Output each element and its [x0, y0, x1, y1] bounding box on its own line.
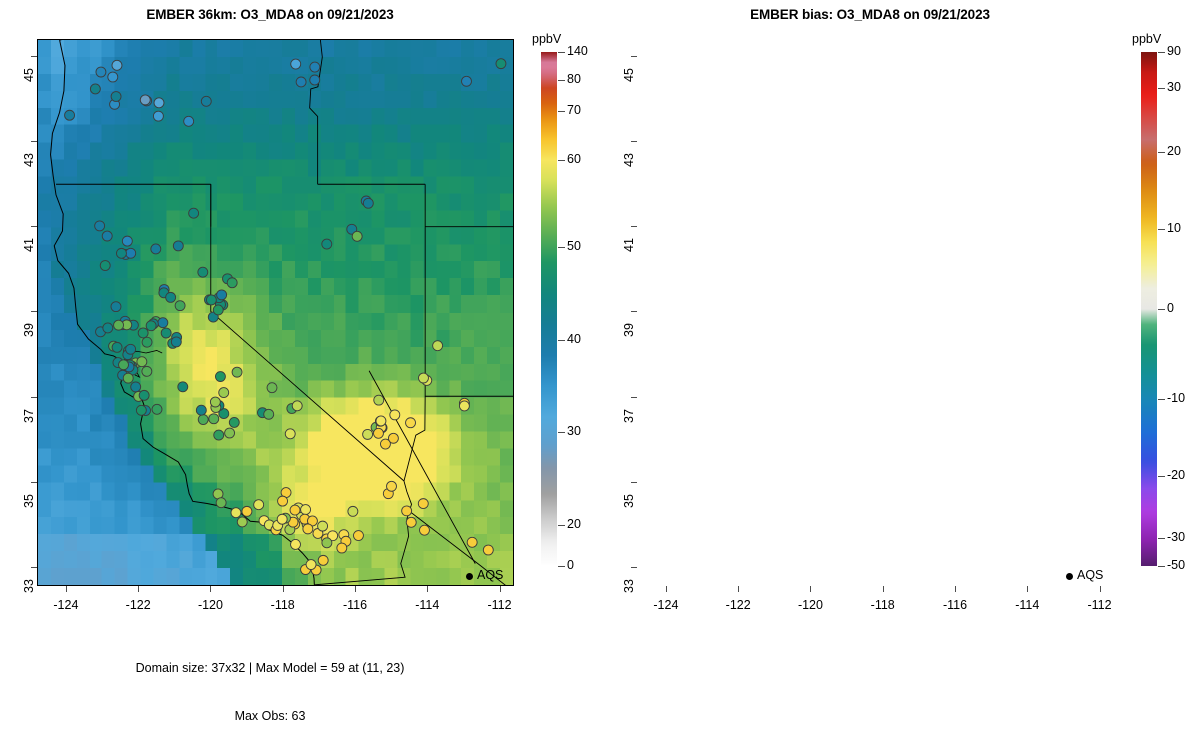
y-axis-label: 43 [622, 140, 636, 180]
aqs-site-marker[interactable] [146, 321, 156, 331]
page-title-model: EMBER 36km: O3_MDA8 on 09/21/2023 [0, 7, 540, 22]
y-axis-label: 45 [22, 55, 36, 95]
aqs-site-marker[interactable] [254, 500, 264, 510]
x-axis-tick [1100, 586, 1101, 592]
colorbar-tick [558, 566, 565, 567]
aqs-site-marker[interactable] [376, 416, 386, 426]
aqs-site-marker[interactable] [264, 409, 274, 419]
colorbar-tick [1158, 88, 1165, 89]
aqs-site-marker[interactable] [380, 439, 390, 449]
aqs-site-marker[interactable] [198, 415, 208, 425]
colorbar-tick-label: 30 [1167, 80, 1181, 94]
aqs-site-marker[interactable] [217, 290, 227, 300]
aqs-site-marker[interactable] [310, 75, 320, 85]
aqs-site-marker[interactable] [140, 95, 150, 105]
aqs-site-marker[interactable] [462, 76, 472, 86]
aqs-site-marker[interactable] [242, 506, 252, 516]
aqs-site-marker[interactable] [153, 111, 163, 121]
aqs-site-marker[interactable] [122, 236, 132, 246]
aqs-site-marker[interactable] [496, 59, 506, 69]
aqs-site-marker[interactable] [210, 397, 220, 407]
colorbar-tick-label: 0 [1167, 301, 1174, 315]
y-axis-label: 43 [22, 140, 36, 180]
aqs-site-marker[interactable] [433, 341, 443, 351]
colorbar-tick [558, 111, 565, 112]
aqs-site-marker[interactable] [111, 302, 121, 312]
x-axis-tick [1027, 586, 1028, 592]
aqs-site-marker[interactable] [318, 521, 328, 531]
aqs-site-marker[interactable] [291, 539, 301, 549]
aqs-site-marker[interactable] [136, 405, 146, 415]
x-axis-label: -124 [643, 598, 689, 612]
colorbar-tick [1158, 152, 1165, 153]
y-axis-label: 39 [22, 310, 36, 350]
aqs-site-marker[interactable] [102, 231, 112, 241]
y-axis-label: 33 [622, 566, 636, 606]
aqs-site-marker[interactable] [213, 305, 223, 315]
aqs-site-marker[interactable] [322, 538, 332, 548]
colorbar-tick-label: 0 [567, 558, 574, 572]
aqs-site-marker[interactable] [189, 208, 199, 218]
aqs-site-marker[interactable] [175, 301, 185, 311]
y-axis-label: 35 [22, 481, 36, 521]
aqs-site-marker[interactable] [387, 481, 397, 491]
aqs-site-marker[interactable] [267, 383, 277, 393]
y-axis-label: 33 [22, 566, 36, 606]
colorbar-tick [1158, 229, 1165, 230]
aqs-site-marker[interactable] [126, 248, 136, 258]
colorbar-unit-bias: ppbV [1132, 32, 1161, 46]
aqs-site-marker[interactable] [310, 62, 320, 72]
x-axis-label: -116 [932, 598, 978, 612]
colorbar-tick [558, 525, 565, 526]
x-axis-tick [500, 586, 501, 592]
aqs-site-marker[interactable] [322, 239, 332, 249]
aqs-site-marker[interactable] [225, 428, 235, 438]
aqs-site-marker[interactable] [112, 342, 122, 352]
caption-model: Domain size: 37x32 | Max Model = 59 at (… [0, 628, 540, 756]
aqs-site-marker[interactable] [209, 414, 219, 424]
aqs-site-marker[interactable] [232, 367, 242, 377]
x-axis-label: -112 [477, 598, 523, 612]
aqs-site-marker[interactable] [291, 59, 301, 69]
aqs-site-marker[interactable] [301, 505, 311, 515]
aqs-site-marker[interactable] [418, 373, 428, 383]
aqs-site-marker[interactable] [96, 67, 106, 77]
aqs-site-marker[interactable] [112, 60, 122, 70]
aqs-site-marker[interactable] [100, 261, 110, 271]
aqs-site-marker[interactable] [353, 531, 363, 541]
x-axis-tick [810, 586, 811, 592]
aqs-site-marker[interactable] [406, 517, 416, 527]
colorbar-tick-label: 50 [567, 239, 581, 253]
aqs-site-marker[interactable] [418, 499, 428, 509]
aqs-site-marker[interactable] [290, 505, 300, 515]
aqs-site-marker[interactable] [137, 357, 147, 367]
aqs-site-marker[interactable] [114, 320, 124, 330]
x-axis-tick [955, 586, 956, 592]
colorbar-tick [1158, 538, 1165, 539]
aqs-site-marker[interactable] [227, 278, 237, 288]
panel-model: EMBER 36km: O3_MDA8 on 09/21/2023 AQS pp… [0, 0, 600, 672]
x-axis-label: -114 [1004, 598, 1050, 612]
colorbar-tick [1158, 566, 1165, 567]
x-axis-tick [138, 586, 139, 592]
colorbar-bias [1141, 52, 1157, 566]
aqs-site-marker[interactable] [285, 429, 295, 439]
x-axis-tick [427, 586, 428, 592]
aqs-site-marker[interactable] [108, 72, 118, 82]
colorbar-tick-label: 20 [1167, 144, 1181, 158]
colorbar-tick-label: -10 [1167, 391, 1185, 405]
x-axis-label: -124 [43, 598, 89, 612]
aqs-site-marker[interactable] [292, 401, 302, 411]
aqs-legend-model: AQS [466, 568, 503, 582]
aqs-site-marker[interactable] [123, 373, 133, 383]
aqs-site-marker[interactable] [337, 543, 347, 553]
colorbar-tick-label: 30 [567, 424, 581, 438]
y-axis-label: 41 [22, 225, 36, 265]
map-plot-model[interactable] [37, 39, 514, 586]
aqs-site-marker[interactable] [348, 506, 358, 516]
aqs-site-marker[interactable] [306, 560, 316, 570]
x-axis-label: -120 [187, 598, 233, 612]
y-axis-label: 45 [622, 55, 636, 95]
colorbar-tick-label: 90 [1167, 44, 1181, 58]
aqs-site-marker[interactable] [152, 404, 162, 414]
colorbar-unit-model: ppbV [532, 32, 561, 46]
colorbar-tick-label: 40 [567, 332, 581, 346]
aqs-site-marker[interactable] [154, 98, 164, 108]
aqs-site-marker[interactable] [171, 337, 181, 347]
aqs-site-marker[interactable] [90, 84, 100, 94]
aqs-site-marker[interactable] [231, 508, 241, 518]
y-axis-label: 41 [622, 225, 636, 265]
aqs-site-marker[interactable] [296, 77, 306, 87]
observation-points-model[interactable] [38, 40, 513, 585]
aqs-marker-icon [466, 573, 473, 580]
colorbar-tick-label: 70 [567, 103, 581, 117]
x-axis-label: -116 [332, 598, 378, 612]
colorbar-tick-label: 20 [567, 517, 581, 531]
x-axis-tick [738, 586, 739, 592]
colorbar-tick-label: 140 [567, 44, 588, 58]
y-axis-label: 37 [622, 396, 636, 436]
aqs-site-marker[interactable] [363, 198, 373, 208]
x-axis-tick [355, 586, 356, 592]
aqs-site-marker[interactable] [390, 410, 400, 420]
colorbar-model [541, 52, 557, 566]
x-axis-tick [666, 586, 667, 592]
aqs-site-marker[interactable] [196, 405, 206, 415]
aqs-site-marker[interactable] [229, 417, 239, 427]
aqs-site-marker[interactable] [363, 429, 373, 439]
x-axis-tick [883, 586, 884, 592]
aqs-site-marker[interactable] [459, 401, 469, 411]
aqs-site-marker[interactable] [116, 248, 126, 258]
x-axis-label: -122 [715, 598, 761, 612]
aqs-site-marker[interactable] [402, 506, 412, 516]
aqs-legend-label: AQS [477, 568, 503, 582]
colorbar-tick [1158, 399, 1165, 400]
aqs-site-marker[interactable] [198, 267, 208, 277]
aqs-site-marker[interactable] [161, 328, 171, 338]
colorbar-tick [1158, 309, 1165, 310]
aqs-site-marker[interactable] [139, 390, 149, 400]
aqs-site-marker[interactable] [483, 545, 493, 555]
aqs-site-marker[interactable] [318, 555, 328, 565]
colorbar-tick [558, 432, 565, 433]
colorbar-tick [1158, 52, 1165, 53]
x-axis-tick [283, 586, 284, 592]
colorbar-tick [558, 80, 565, 81]
aqs-site-marker[interactable] [374, 395, 384, 405]
aqs-site-marker[interactable] [214, 430, 224, 440]
colorbar-tick [1158, 476, 1165, 477]
aqs-legend-label: AQS [1077, 568, 1103, 582]
aqs-site-marker[interactable] [467, 537, 477, 547]
colorbar-tick-label: -30 [1167, 530, 1185, 544]
aqs-marker-icon [1066, 573, 1073, 580]
aqs-site-marker[interactable] [303, 524, 313, 534]
caption-model-line2: Max Obs: 63 [0, 708, 540, 724]
y-axis-label: 39 [622, 310, 636, 350]
aqs-site-marker[interactable] [158, 318, 168, 328]
aqs-site-marker[interactable] [111, 92, 121, 102]
page-title-bias: EMBER bias: O3_MDA8 on 09/21/2023 [600, 7, 1140, 22]
aqs-site-marker[interactable] [184, 116, 194, 126]
aqs-site-marker[interactable] [206, 295, 216, 305]
aqs-site-marker[interactable] [219, 388, 229, 398]
aqs-site-marker[interactable] [131, 382, 141, 392]
aqs-site-marker[interactable] [201, 96, 211, 106]
aqs-site-marker[interactable] [95, 221, 105, 231]
aqs-site-marker[interactable] [277, 514, 287, 524]
aqs-site-marker[interactable] [151, 244, 161, 254]
colorbar-tick-label: -20 [1167, 468, 1185, 482]
colorbar-tick [558, 247, 565, 248]
aqs-site-marker[interactable] [419, 525, 429, 535]
x-axis-label: -118 [860, 598, 906, 612]
y-axis-label: 35 [622, 481, 636, 521]
aqs-site-marker[interactable] [178, 382, 188, 392]
colorbar-tick-label: -50 [1167, 558, 1185, 572]
x-axis-label: -114 [404, 598, 450, 612]
aqs-site-marker[interactable] [103, 323, 113, 333]
x-axis-label: -118 [260, 598, 306, 612]
colorbar-tick-label: 60 [567, 152, 581, 166]
panel-bias: EMBER bias: O3_MDA8 on 09/21/2023 AQS pp… [600, 0, 1200, 672]
x-axis-tick [66, 586, 67, 592]
colorbar-tick-label: 80 [567, 72, 581, 86]
aqs-site-marker[interactable] [126, 344, 136, 354]
aqs-site-marker[interactable] [138, 328, 148, 338]
aqs-site-marker[interactable] [215, 372, 225, 382]
aqs-site-marker[interactable] [237, 517, 247, 527]
aqs-site-marker[interactable] [166, 292, 176, 302]
aqs-site-marker[interactable] [373, 428, 383, 438]
colorbar-tick-label: 10 [1167, 221, 1181, 235]
colorbar-tick [558, 52, 565, 53]
colorbar-tick [558, 160, 565, 161]
x-axis-tick [210, 586, 211, 592]
aqs-site-marker[interactable] [142, 337, 152, 347]
colorbar-tick [558, 340, 565, 341]
aqs-site-marker[interactable] [216, 498, 226, 508]
x-axis-label: -122 [115, 598, 161, 612]
aqs-site-marker[interactable] [406, 418, 416, 428]
aqs-legend-bias: AQS [1066, 568, 1103, 582]
x-axis-label: -120 [787, 598, 833, 612]
aqs-site-marker[interactable] [119, 360, 129, 370]
x-axis-label: -112 [1077, 598, 1123, 612]
caption-model-line1: Domain size: 37x32 | Max Model = 59 at (… [0, 660, 540, 676]
aqs-site-marker[interactable] [142, 366, 152, 376]
y-axis-label: 37 [22, 396, 36, 436]
aqs-site-marker[interactable] [278, 496, 288, 506]
aqs-site-marker[interactable] [173, 241, 183, 251]
aqs-site-marker[interactable] [65, 110, 75, 120]
aqs-site-marker[interactable] [352, 231, 362, 241]
